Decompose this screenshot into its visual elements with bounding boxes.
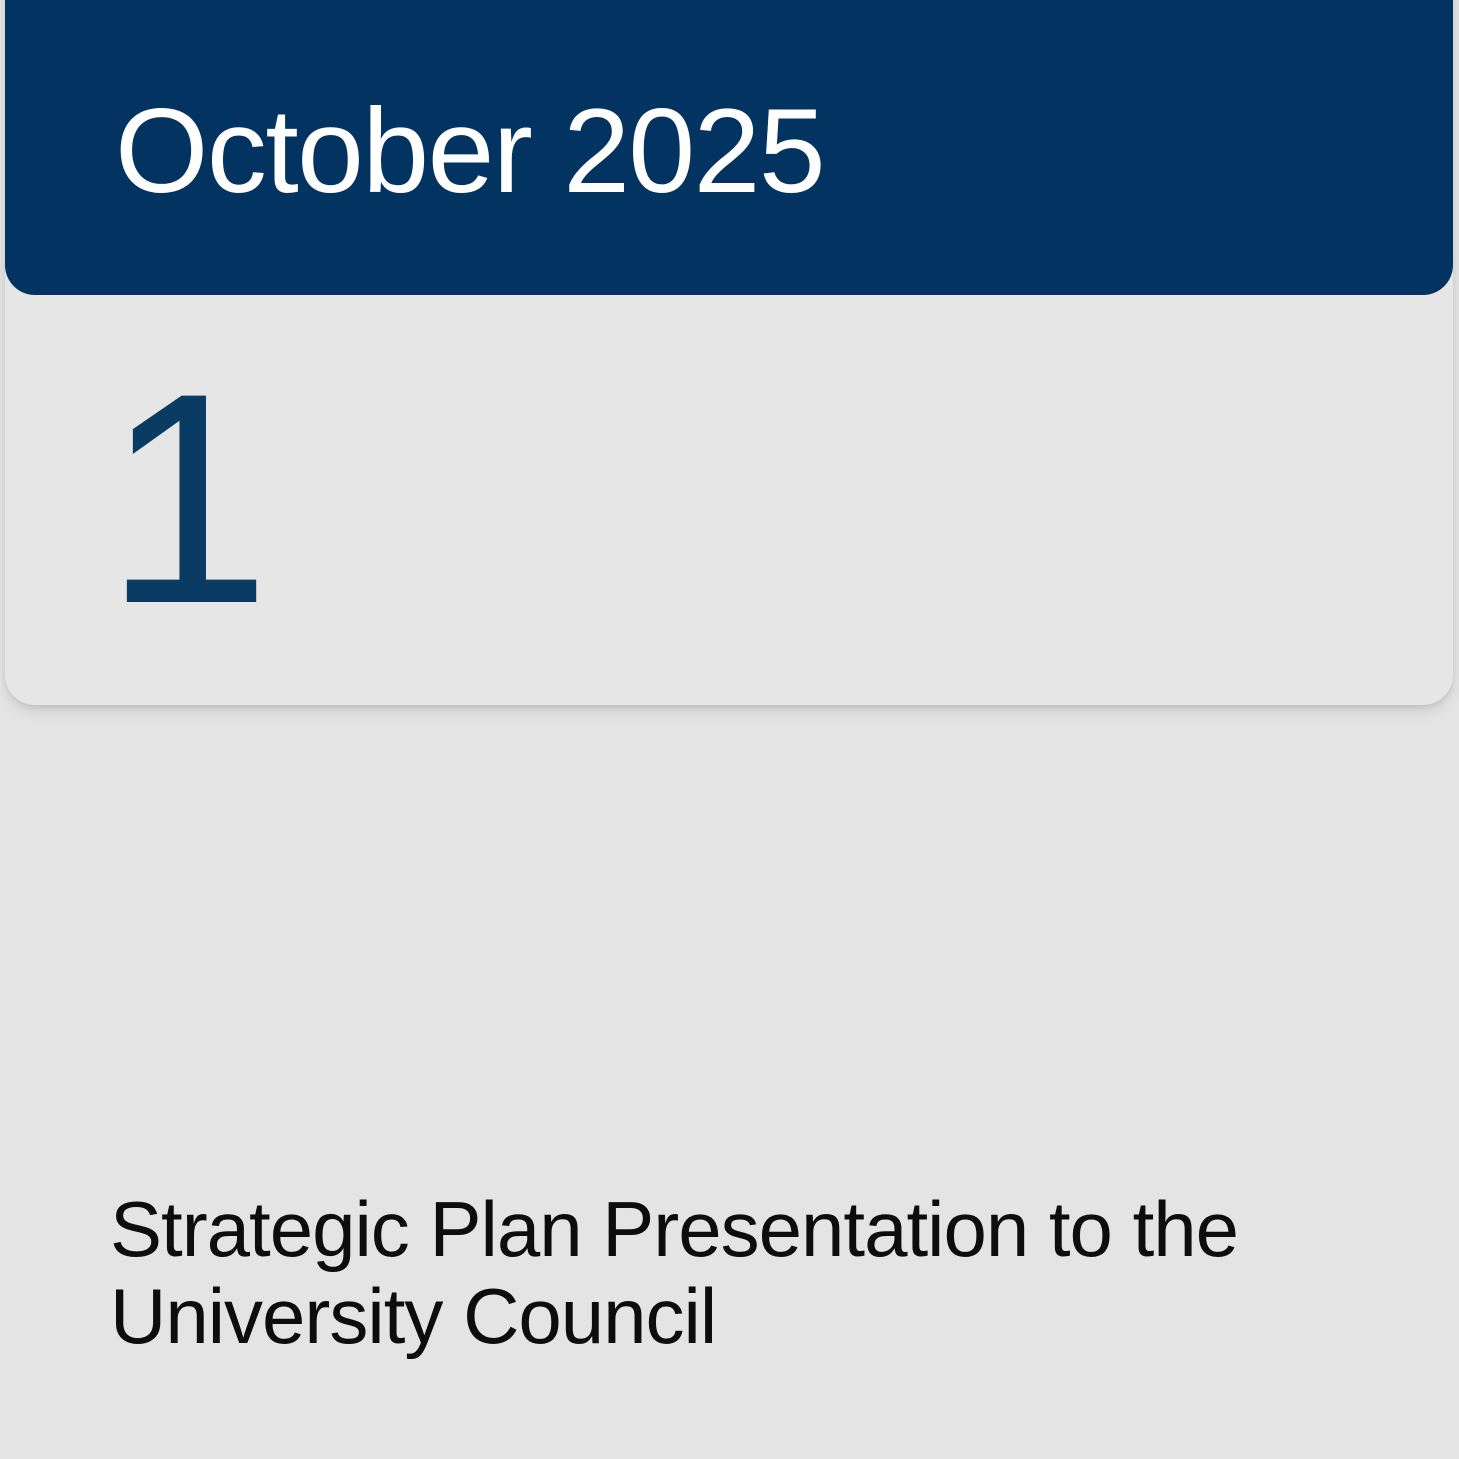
month-header-bar: October 2025 bbox=[5, 0, 1453, 295]
month-title: October 2025 bbox=[115, 91, 824, 211]
day-card[interactable]: October 2025 1 bbox=[5, 0, 1453, 705]
date-body: 1 bbox=[5, 295, 1453, 705]
date-number: 1 bbox=[104, 390, 1453, 606]
event-block[interactable]: Strategic Plan Presentation to the Unive… bbox=[110, 1186, 1290, 1361]
calendar-day-view: October 2025 1 Strategic Plan Presentati… bbox=[0, 0, 1459, 1459]
event-title: Strategic Plan Presentation to the Unive… bbox=[110, 1186, 1290, 1361]
